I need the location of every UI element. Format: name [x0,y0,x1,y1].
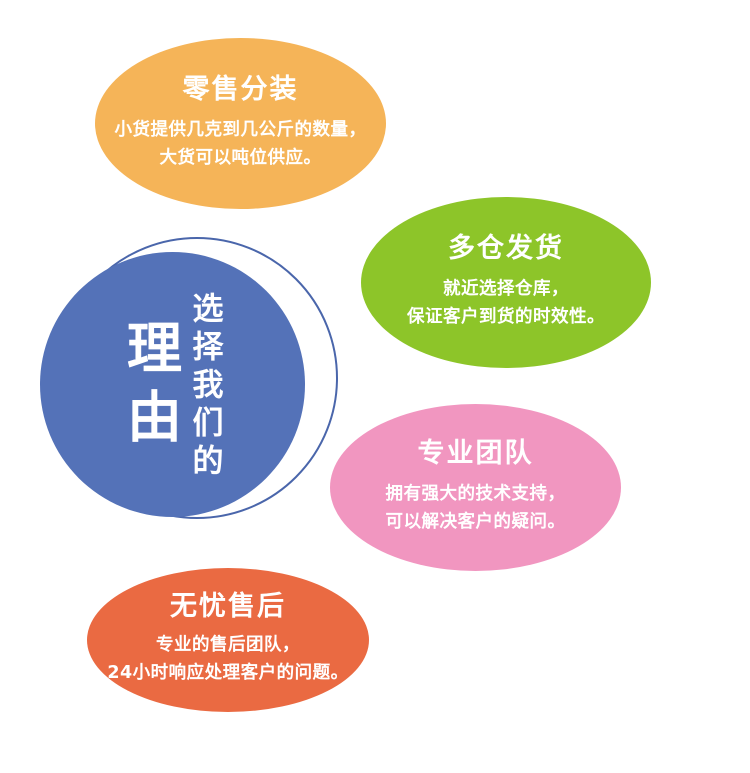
infographic-canvas: 零售分装 小货提供几克到几公斤的数量， 大货可以吨位供应。 多仓发货 就近选择仓… [0,0,750,773]
bubble-warehouse-body: 就近选择仓库， 保证客户到货的时效性。 [407,275,605,332]
bubble-aftersales-body: 专业的售后团队， 24小时响应处理客户的问题。 [107,631,348,688]
reason-core-circle[interactable]: 理由 选择我们的 [40,233,340,533]
bubble-team-line-1: 拥有强大的技术支持， [386,480,566,508]
bubble-aftersales-line-1: 专业的售后团队， [107,631,348,659]
bubble-warehouse-line-1: 就近选择仓库， [407,275,605,303]
bubble-retail[interactable]: 零售分装 小货提供几克到几公斤的数量， 大货可以吨位供应。 [95,38,386,209]
bubble-warehouse[interactable]: 多仓发货 就近选择仓库， 保证客户到货的时效性。 [361,197,651,368]
bubble-team-body: 拥有强大的技术支持， 可以解决客户的疑问。 [386,480,566,537]
bubble-aftersales[interactable]: 无忧售后 专业的售后团队， 24小时响应处理客户的问题。 [87,568,369,712]
bubble-aftersales-line-2: 24小时响应处理客户的问题。 [107,659,348,687]
reason-text-group: 理由 选择我们的 [40,252,305,517]
bubble-team-title: 专业团队 [418,439,534,469]
bubble-retail-title: 零售分装 [183,75,299,105]
bubble-retail-line-1: 小货提供几克到几公斤的数量， [115,116,367,144]
bubble-retail-line-2: 大货可以吨位供应。 [115,144,367,172]
bubble-retail-body: 小货提供几克到几公斤的数量， 大货可以吨位供应。 [115,116,367,173]
bubble-team-line-2: 可以解决客户的疑问。 [386,508,566,536]
reason-main-label: 理由 [122,319,177,457]
bubble-aftersales-title: 无忧售后 [170,592,286,622]
bubble-warehouse-title: 多仓发货 [448,234,564,264]
bubble-team[interactable]: 专业团队 拥有强大的技术支持， 可以解决客户的疑问。 [330,404,621,571]
bubble-warehouse-line-2: 保证客户到货的时效性。 [407,303,605,331]
reason-lead-label: 选择我们的 [189,292,220,482]
